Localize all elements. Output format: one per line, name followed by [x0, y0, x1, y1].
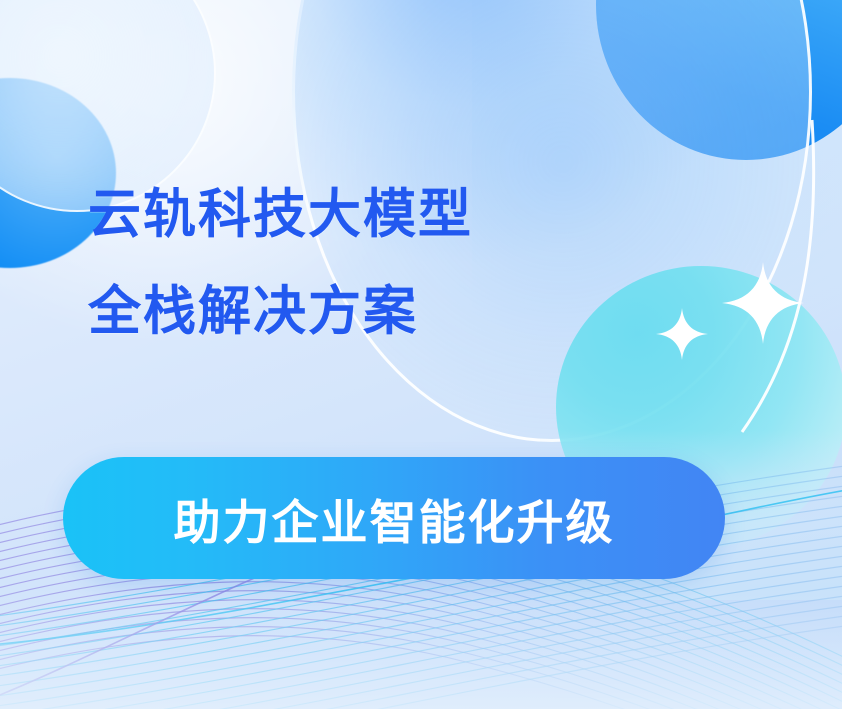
cta-button-label: 助力企业智能化升级: [174, 484, 615, 553]
headline-line-2: 全栈解决方案: [88, 285, 473, 338]
headline-line-1: 云轨科技大模型: [88, 188, 473, 241]
promo-poster: 云轨科技大模型 全栈解决方案 助力企业智能化升级: [0, 0, 842, 709]
sparkle-large-icon: [722, 262, 804, 344]
cta-button[interactable]: 助力企业智能化升级: [63, 457, 725, 579]
sparkle-small-icon: [656, 308, 708, 360]
background-decoration-layer: [0, 0, 842, 709]
page-title: 云轨科技大模型 全栈解决方案: [88, 188, 473, 338]
